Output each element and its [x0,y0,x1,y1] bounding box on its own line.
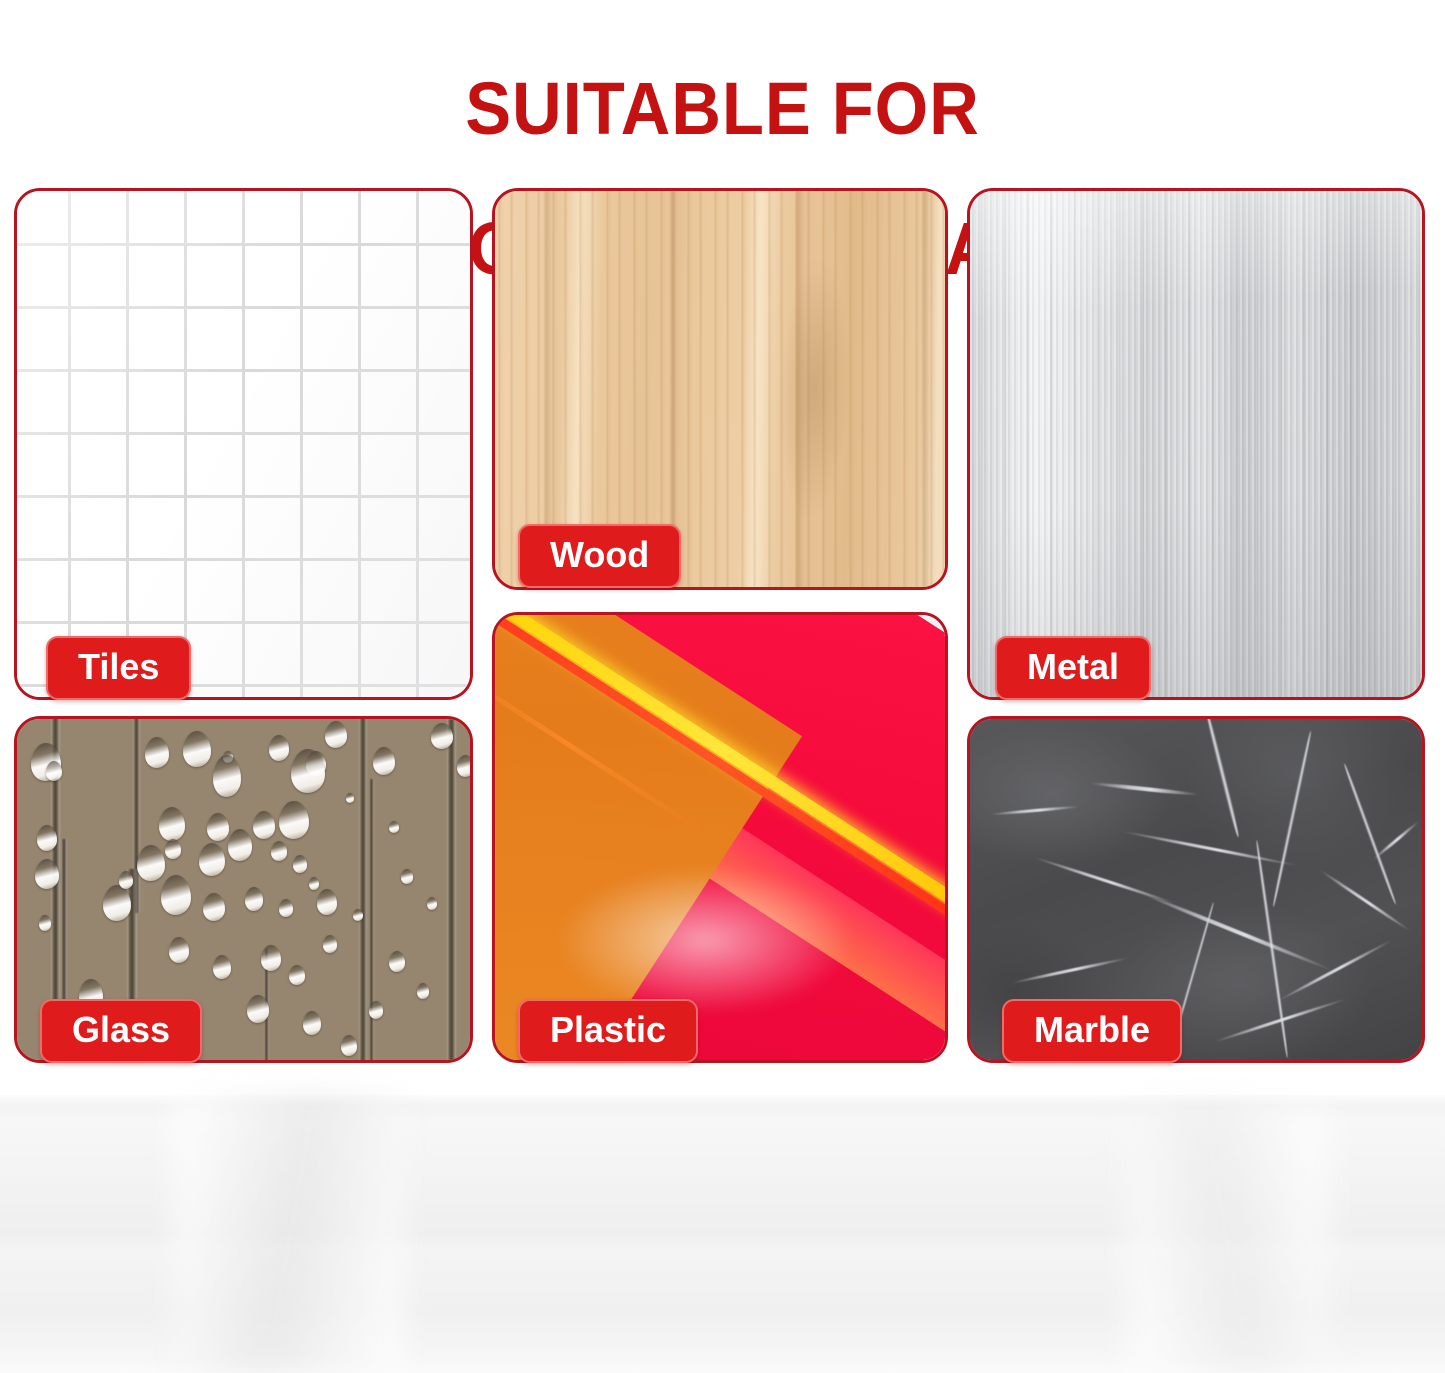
badge-metal: Metal [995,636,1151,700]
badge-plastic: Plastic [518,999,698,1063]
badge-tiles: Tiles [46,636,191,700]
badge-wood: Wood [518,524,681,588]
bottom-product-strip [0,1095,1445,1373]
badge-marble: Marble [1002,999,1182,1063]
metal-texture [970,191,1422,697]
tiles-texture [17,191,470,697]
panel-plastic [492,612,948,1063]
panel-metal [967,188,1425,700]
surface-panel-grid: Tiles Wood Metal [0,0,1445,1070]
badge-glass: Glass [40,999,202,1063]
plastic-texture [495,615,945,1060]
panel-tiles [14,188,473,700]
